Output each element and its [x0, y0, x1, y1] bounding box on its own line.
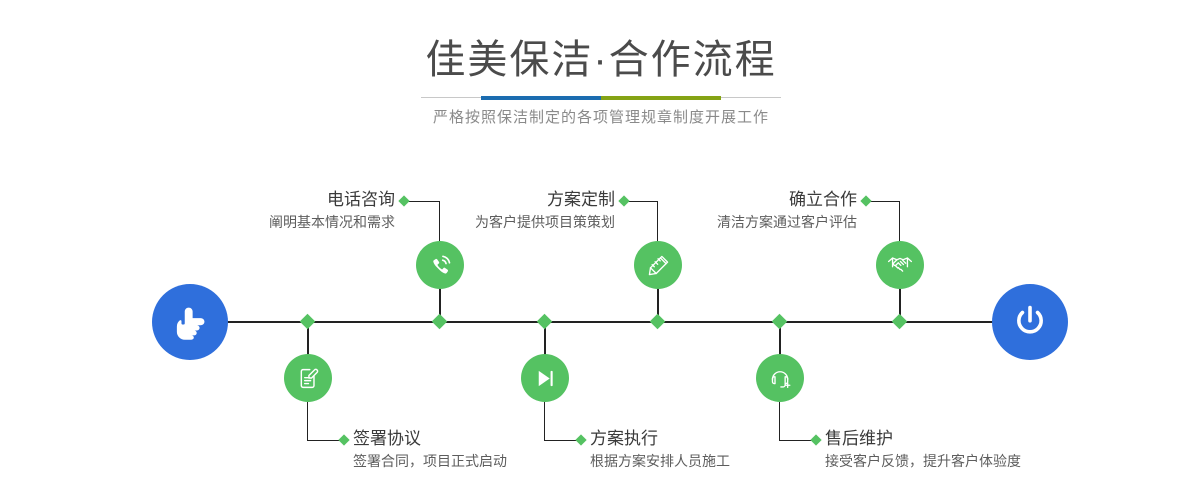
page-subtitle: 严格按照保洁制定的各项管理规章制度开展工作: [0, 106, 1202, 130]
step-3-node[interactable]: [634, 241, 682, 289]
step-5-title: 确立合作: [597, 189, 857, 211]
step-2-label-elbow-v: [307, 402, 308, 440]
step-2-title: 签署协议: [353, 428, 603, 450]
step-6-desc: 接受客户反馈，提升客户体验度: [825, 450, 1105, 472]
step-5-label: 确立合作 清洁方案通过客户评估: [597, 189, 857, 233]
handshake-icon: [886, 251, 914, 279]
step-6-label-elbow-h: [779, 440, 814, 441]
step-3-title: 方案定制: [355, 189, 615, 211]
process-flow-infographic: 佳美保洁·合作流程 严格按照保洁制定的各项管理规章制度开展工作: [0, 0, 1202, 502]
step-5-label-elbow-h: [868, 201, 900, 202]
timeline-start-badge: [152, 284, 228, 360]
step-2-label: 签署协议 签署合同，项目正式启动: [353, 428, 603, 472]
step-2-desc: 签署合同，项目正式启动: [353, 450, 603, 472]
step-6-label: 售后维护 接受客户反馈，提升客户体验度: [825, 428, 1105, 472]
timeline-end-badge: [992, 284, 1068, 360]
document-edit-icon: [295, 365, 322, 392]
step-6-node[interactable]: [756, 354, 804, 402]
step-5-desc: 清洁方案通过客户评估: [597, 211, 857, 233]
step-4-axis-diamond: [537, 314, 553, 330]
step-6-label-elbow-v: [779, 402, 780, 440]
step-2-node[interactable]: [284, 354, 332, 402]
pointing-hand-icon: [169, 301, 211, 343]
step-2-label-elbow-h: [307, 440, 342, 441]
step-3-label: 方案定制 为客户提供项目策策划: [355, 189, 615, 233]
phone-call-icon: [427, 252, 454, 279]
divider-blue-segment: [481, 96, 601, 100]
step-4-label-elbow-v: [544, 402, 545, 440]
pencil-ruler-icon: [645, 252, 672, 279]
step-6-title: 售后维护: [825, 428, 1105, 450]
page-title: 佳美保洁·合作流程: [0, 36, 1202, 84]
headset-support-icon: [767, 365, 794, 392]
step-6-axis-diamond: [772, 314, 788, 330]
step-5-axis-diamond: [892, 314, 908, 330]
step-3-axis-diamond: [650, 314, 666, 330]
step-2-label-diamond: [338, 434, 349, 445]
play-execute-icon: [532, 365, 559, 392]
step-1-node[interactable]: [416, 241, 464, 289]
title-divider: [421, 96, 781, 100]
step-5-label-diamond: [860, 195, 871, 206]
step-4-desc: 根据方案安排人员施工: [590, 450, 840, 472]
step-1-axis-diamond: [432, 314, 448, 330]
step-2-axis-diamond: [300, 314, 316, 330]
step-5-node[interactable]: [876, 241, 924, 289]
step-4-label: 方案执行 根据方案安排人员施工: [590, 428, 840, 472]
step-4-title: 方案执行: [590, 428, 840, 450]
step-3-desc: 为客户提供项目策策划: [355, 211, 615, 233]
power-icon: [1009, 301, 1051, 343]
step-4-node[interactable]: [521, 354, 569, 402]
timeline-axis: [225, 321, 997, 323]
step-5-label-elbow-v: [899, 201, 900, 241]
divider-green-segment: [601, 96, 721, 100]
step-4-label-elbow-h: [544, 440, 579, 441]
